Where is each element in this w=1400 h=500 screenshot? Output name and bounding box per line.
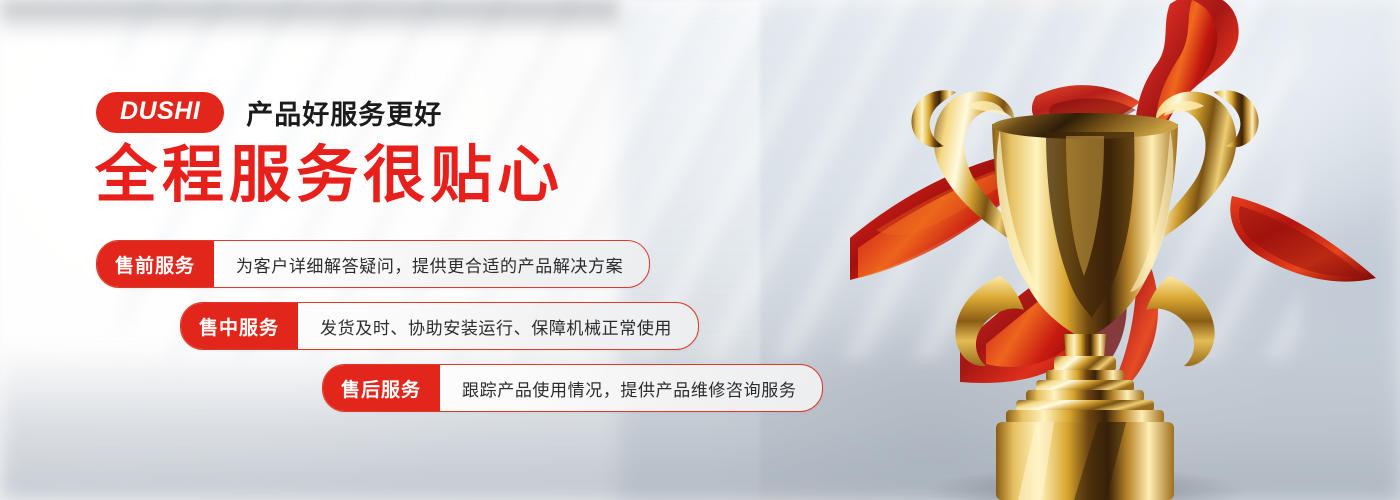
service-list: 售前服务 为客户详细解答疑问，提供更合适的产品解决方案 售中服务 发货及时、协助… [0, 240, 823, 412]
service-row-aftersale: 售后服务 跟踪产品使用情况，提供产品维修咨询服务 [322, 364, 823, 412]
service-row-presale: 售前服务 为客户详细解答疑问，提供更合适的产品解决方案 [96, 240, 650, 288]
service-desc-midsale: 发货及时、协助安装运行、保障机械正常使用 [298, 303, 698, 349]
service-row-midsale: 售中服务 发货及时、协助安装运行、保障机械正常使用 [180, 302, 699, 350]
brand-pill: DUSHI [96, 92, 224, 133]
banner-content: DUSHI 产品好服务更好 全程服务很贴心 售前服务 为客户详细解答疑问，提供更… [0, 0, 900, 500]
page-title: 全程服务很贴心 [95, 142, 564, 207]
service-tag-presale: 售前服务 [96, 240, 214, 288]
eyebrow-text: 产品好服务更好 [246, 93, 442, 132]
promo-banner: DUSHI 产品好服务更好 全程服务很贴心 售前服务 为客户详细解答疑问，提供更… [0, 0, 1400, 500]
eyebrow-row: DUSHI 产品好服务更好 [96, 92, 442, 133]
trophy-artwork [840, 0, 1400, 500]
service-desc-aftersale: 跟踪产品使用情况，提供产品维修咨询服务 [440, 365, 822, 411]
service-tag-aftersale: 售后服务 [322, 364, 440, 412]
service-desc-presale: 为客户详细解答疑问，提供更合适的产品解决方案 [214, 241, 649, 287]
service-tag-midsale: 售中服务 [180, 302, 298, 350]
